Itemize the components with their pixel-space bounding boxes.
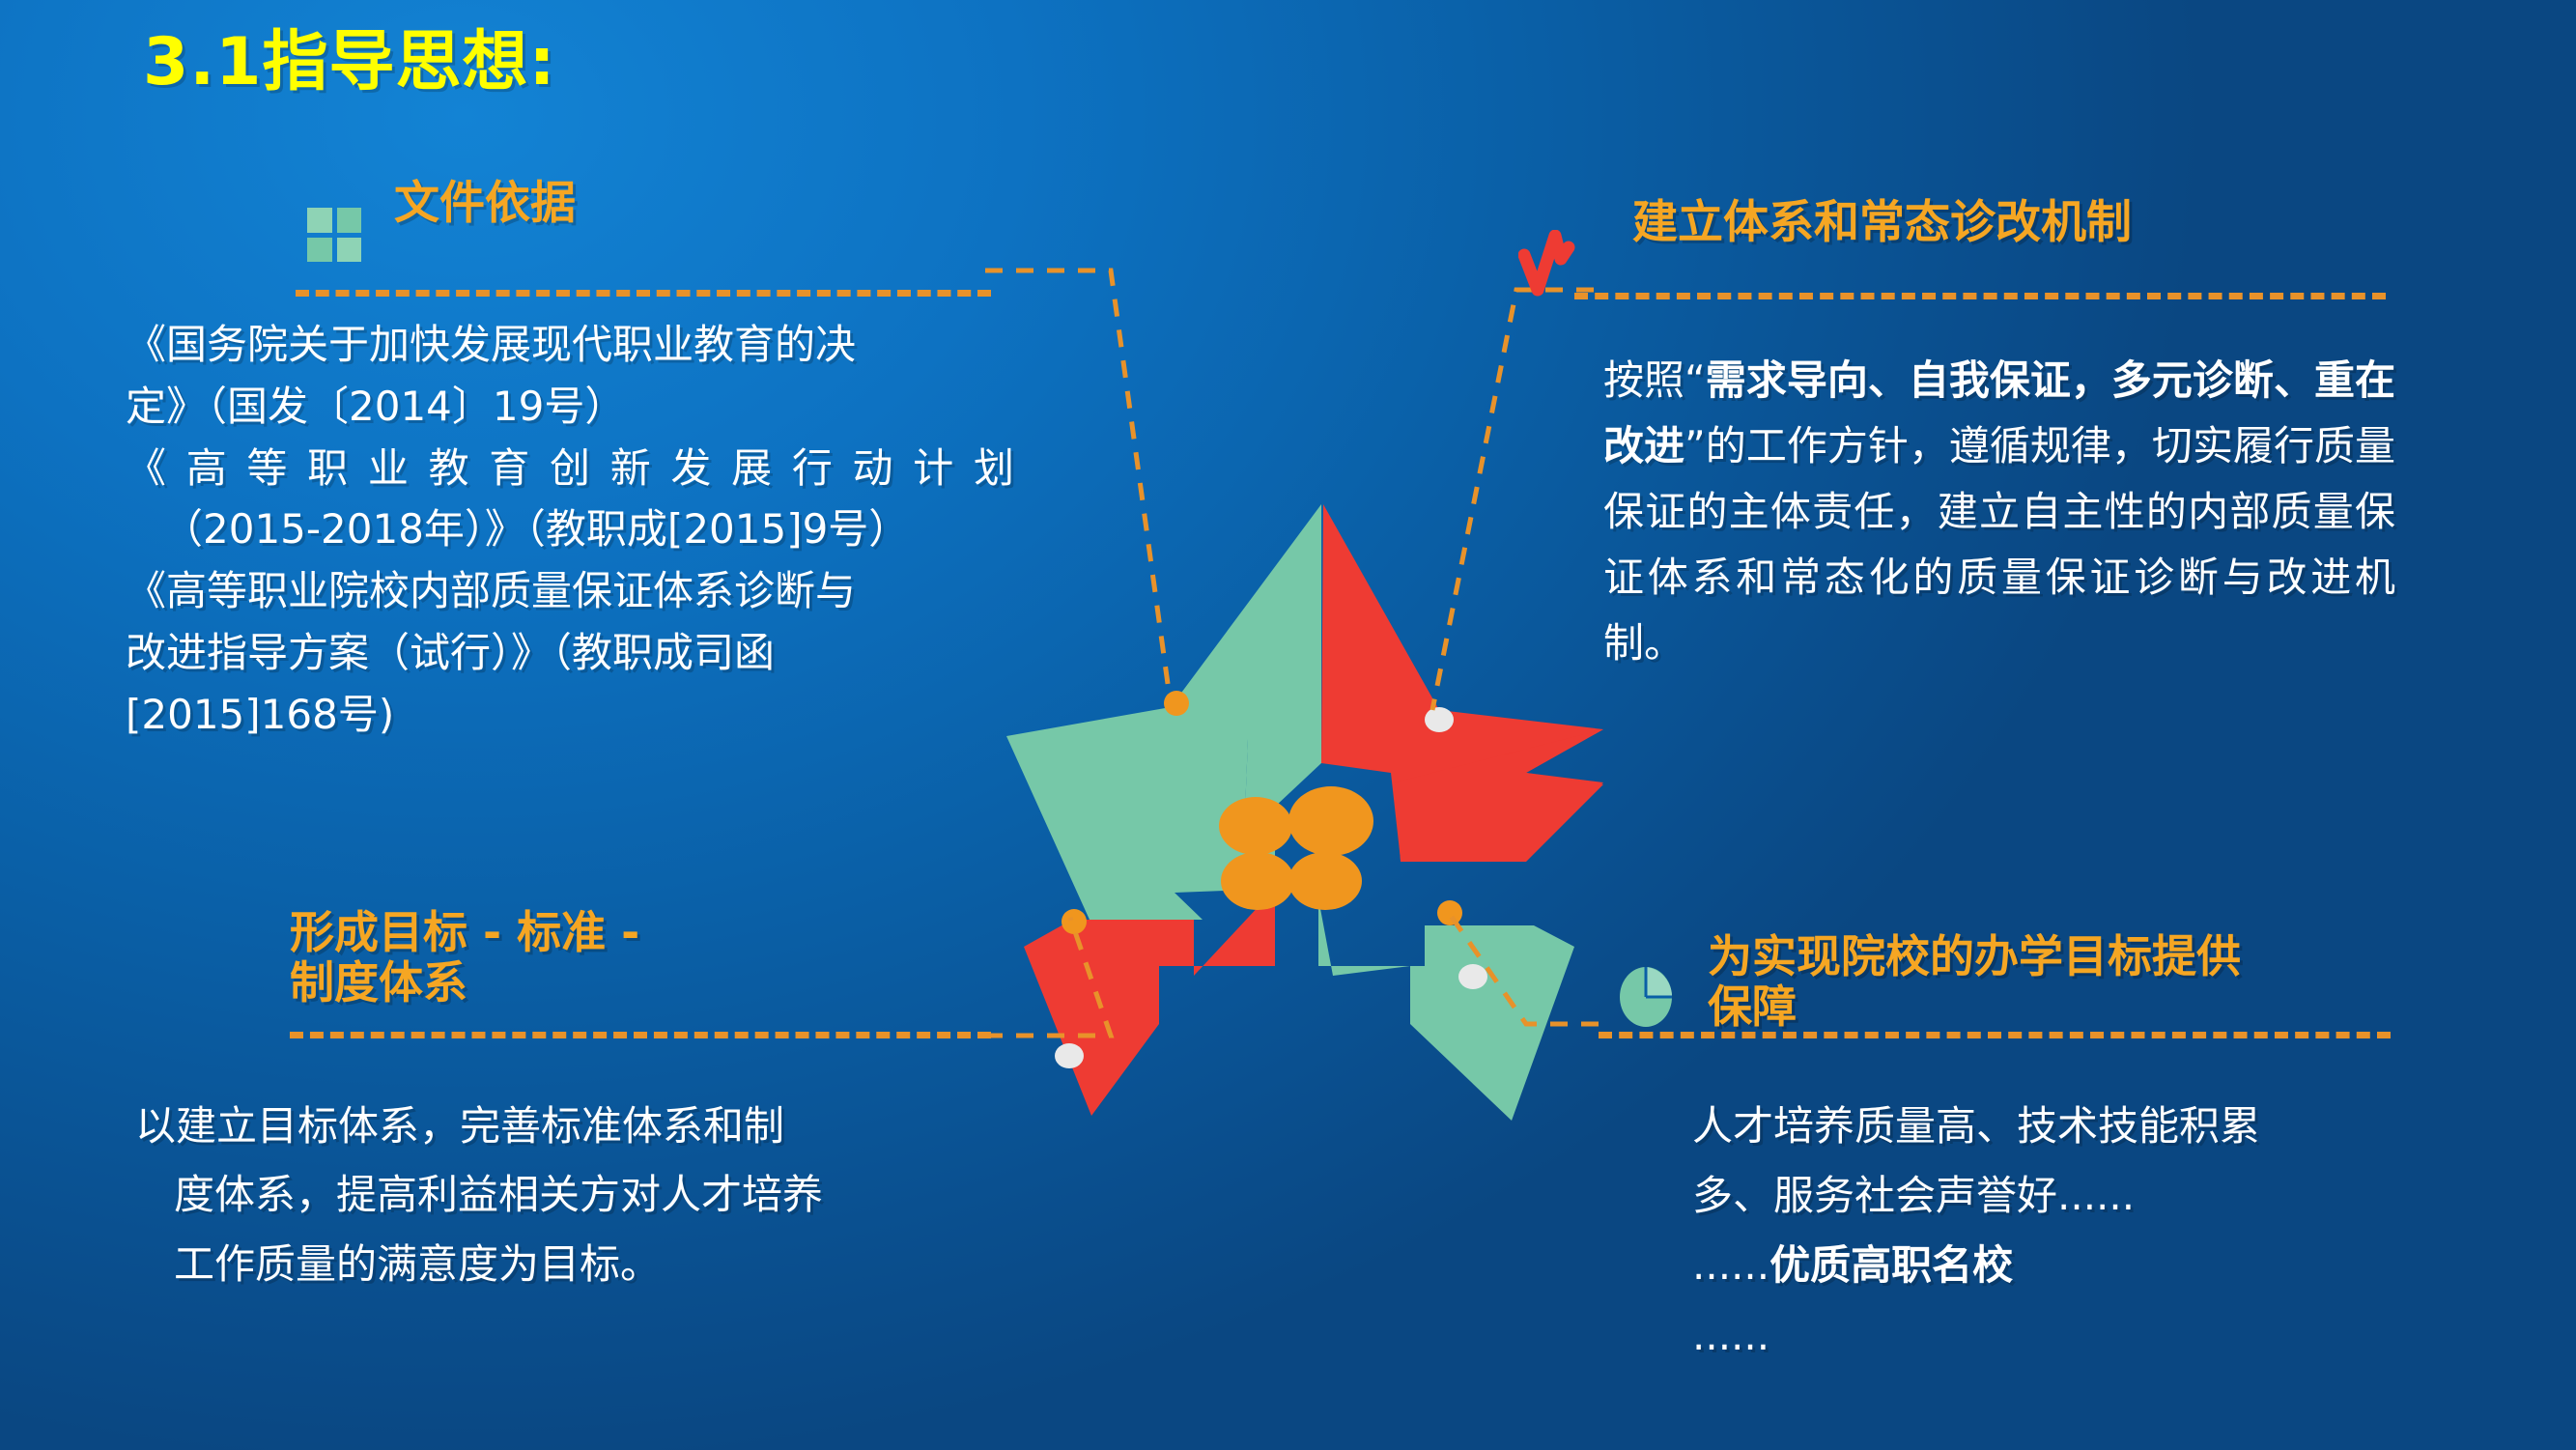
guarantee-line-4: ...... — [1692, 1301, 2542, 1371]
guarantee-line-3: ......优质高职名校 — [1692, 1231, 2542, 1300]
doc-line-5: 《高等职业院校内部质量保证体系诊断与 — [126, 560, 1014, 622]
doc-line-3: 《高等职业教育创新发展行动计划 — [126, 438, 1014, 499]
doc-line-2: 定》（国发〔2014〕19号） — [126, 376, 1014, 438]
section-heading-top-right: 建立体系和常态诊改机制 — [1632, 198, 2132, 249]
connector-top-right — [1432, 290, 1594, 710]
heading-text-guarantee-goals: 为实现院校的办学目标提供 保障 — [1708, 932, 2241, 1032]
build-prefix: 按照“ — [1603, 356, 1706, 404]
build-bold-1: 需求导向、自我保证，多元 — [1706, 356, 2193, 404]
heading-rule-bottom-right — [1599, 1032, 2391, 1038]
guarantee-line-3-bold: 优质高职名校 — [1769, 1241, 2013, 1289]
connector-bottom-left — [985, 918, 1111, 1036]
heading-rule-top-right — [1574, 293, 2386, 299]
red-check-icon — [1518, 230, 1588, 299]
doc-line-7: [2015]168号) — [126, 684, 1014, 746]
goal-line-3: 工作质量的满意度为目标。 — [135, 1230, 1014, 1298]
four-squares-icon — [307, 208, 361, 262]
doc-line-4: （2015-2018年）》（教职成[2015]9号） — [126, 498, 1014, 560]
slide-canvas: 3.1指导思想: — [0, 0, 2576, 1450]
section-heading-top-left: 文件依据 — [394, 179, 576, 230]
guarantee-line-2: 多、服务社会声誉好...... — [1692, 1161, 2542, 1231]
goal-line-1: 以建立目标体系，完善标准体系和制 — [135, 1092, 1014, 1160]
goal-line-2: 度体系，提高利益相关方对人才培养 — [135, 1160, 1014, 1229]
guarantee-line-1: 人才培养质量高、技术技能积累 — [1692, 1092, 2542, 1161]
paragraph-document-basis: 《国务院关于加快发展现代职业教育的决 定》（国发〔2014〕19号） 《高等职业… — [126, 314, 1014, 746]
connector-bottom-right — [1449, 913, 1599, 1024]
build-suffix: ”的工作方针，遵循规律，切实履行质量保证的主体责任，建立自主性的内部质量保证体系… — [1603, 422, 2395, 667]
guarantee-line-3-prefix: ...... — [1692, 1241, 1769, 1289]
heading-rule-bottom-left — [290, 1032, 991, 1038]
section-heading-bottom-right: 为实现院校的办学目标提供 保障 — [1708, 932, 2241, 1032]
heading-text-goal-standard-system: 形成目标 - 标准 - 制度体系 — [290, 908, 639, 1008]
heading-text-document-basis: 文件依据 — [394, 179, 576, 230]
paragraph-build-system: 按照“需求导向、自我保证，多元诊断、重在改进”的工作方针，遵循规律，切实履行质量… — [1603, 348, 2395, 676]
paragraph-goal-standard-system: 以建立目标体系，完善标准体系和制 度体系，提高利益相关方对人才培养 工作质量的满… — [135, 1092, 1014, 1298]
section-heading-bottom-left: 形成目标 - 标准 - 制度体系 — [290, 908, 639, 1008]
heading-rule-top-left — [296, 290, 991, 297]
doc-line-6: 改进指导方案（试行）》（教职成司函 — [126, 622, 1014, 684]
doc-line-1: 《国务院关于加快发展现代职业教育的决 — [126, 314, 1014, 376]
heading-text-build-system: 建立体系和常态诊改机制 — [1632, 198, 2132, 249]
pie-chart-icon — [1615, 966, 1677, 1028]
paragraph-guarantee-goals: 人才培养质量高、技术技能积累 多、服务社会声誉好...... ......优质高… — [1692, 1092, 2542, 1371]
